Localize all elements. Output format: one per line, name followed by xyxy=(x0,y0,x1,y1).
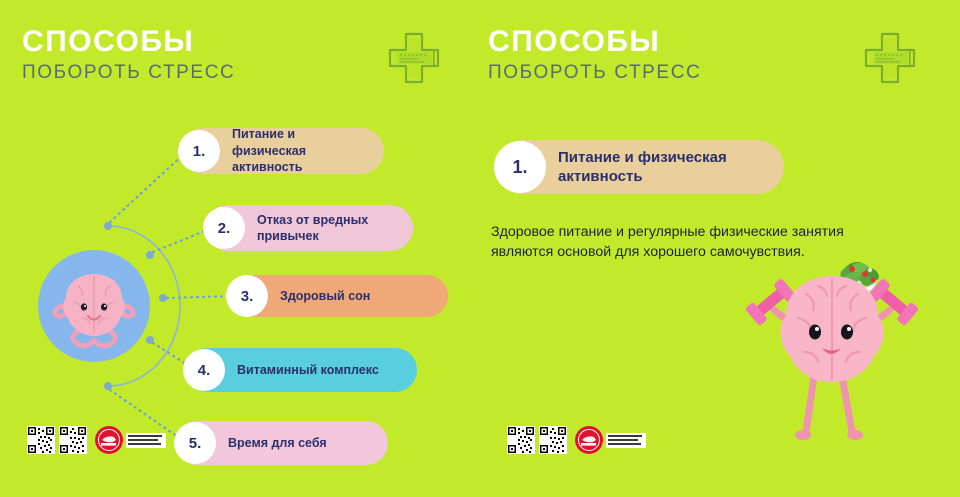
footer-left xyxy=(27,426,166,454)
list-item[interactable]: 3. Здоровый сон xyxy=(228,275,448,317)
right-header: СПОСОБЫ ПОБОРОТЬ СТРЕСС xyxy=(488,26,701,84)
page-subtitle: ПОБОРОТЬ СТРЕСС xyxy=(488,62,701,85)
red-circular-logo-badge xyxy=(95,426,166,454)
meditating-brain-illustration xyxy=(38,250,150,362)
badge-circle-icon xyxy=(95,426,123,454)
list-item-number: 2. xyxy=(203,207,245,249)
brain-lifting-dumbbells-illustration xyxy=(744,248,920,449)
list-item[interactable]: 2. Отказ от вредных привычек xyxy=(205,205,413,251)
slide-canvas: СПОСОБЫ ПОБОРОТЬ СТРЕСС xyxy=(0,0,960,497)
list-item-number: 4. xyxy=(183,349,225,391)
list-item-number: 3. xyxy=(226,275,268,317)
qr-code-icon[interactable] xyxy=(59,426,87,454)
list-item-number: 5. xyxy=(174,422,216,464)
page-title: СПОСОБЫ xyxy=(488,26,701,58)
red-circular-logo-badge xyxy=(575,426,646,454)
list-item[interactable]: 5. Время для себя xyxy=(176,421,388,465)
badge-text-lines xyxy=(126,433,166,448)
left-panel: СПОСОБЫ ПОБОРОТЬ СТРЕСС xyxy=(0,0,470,497)
medical-cross-logo-icon xyxy=(862,30,918,86)
featured-item-number: 1. xyxy=(494,141,546,193)
badge-text-lines xyxy=(606,433,646,448)
list-item[interactable]: 1. Питание и физическая активность xyxy=(180,128,384,174)
qr-code-icon[interactable] xyxy=(539,426,567,454)
qr-code-icon[interactable] xyxy=(27,426,55,454)
list-item[interactable]: 4. Витаминный комплекс xyxy=(185,348,417,392)
qr-code-icon[interactable] xyxy=(507,426,535,454)
list-item-number: 1. xyxy=(178,130,220,172)
badge-circle-icon xyxy=(575,426,603,454)
footer-right xyxy=(507,426,646,454)
featured-list-item[interactable]: 1. Питание и физическая активность xyxy=(496,140,784,194)
